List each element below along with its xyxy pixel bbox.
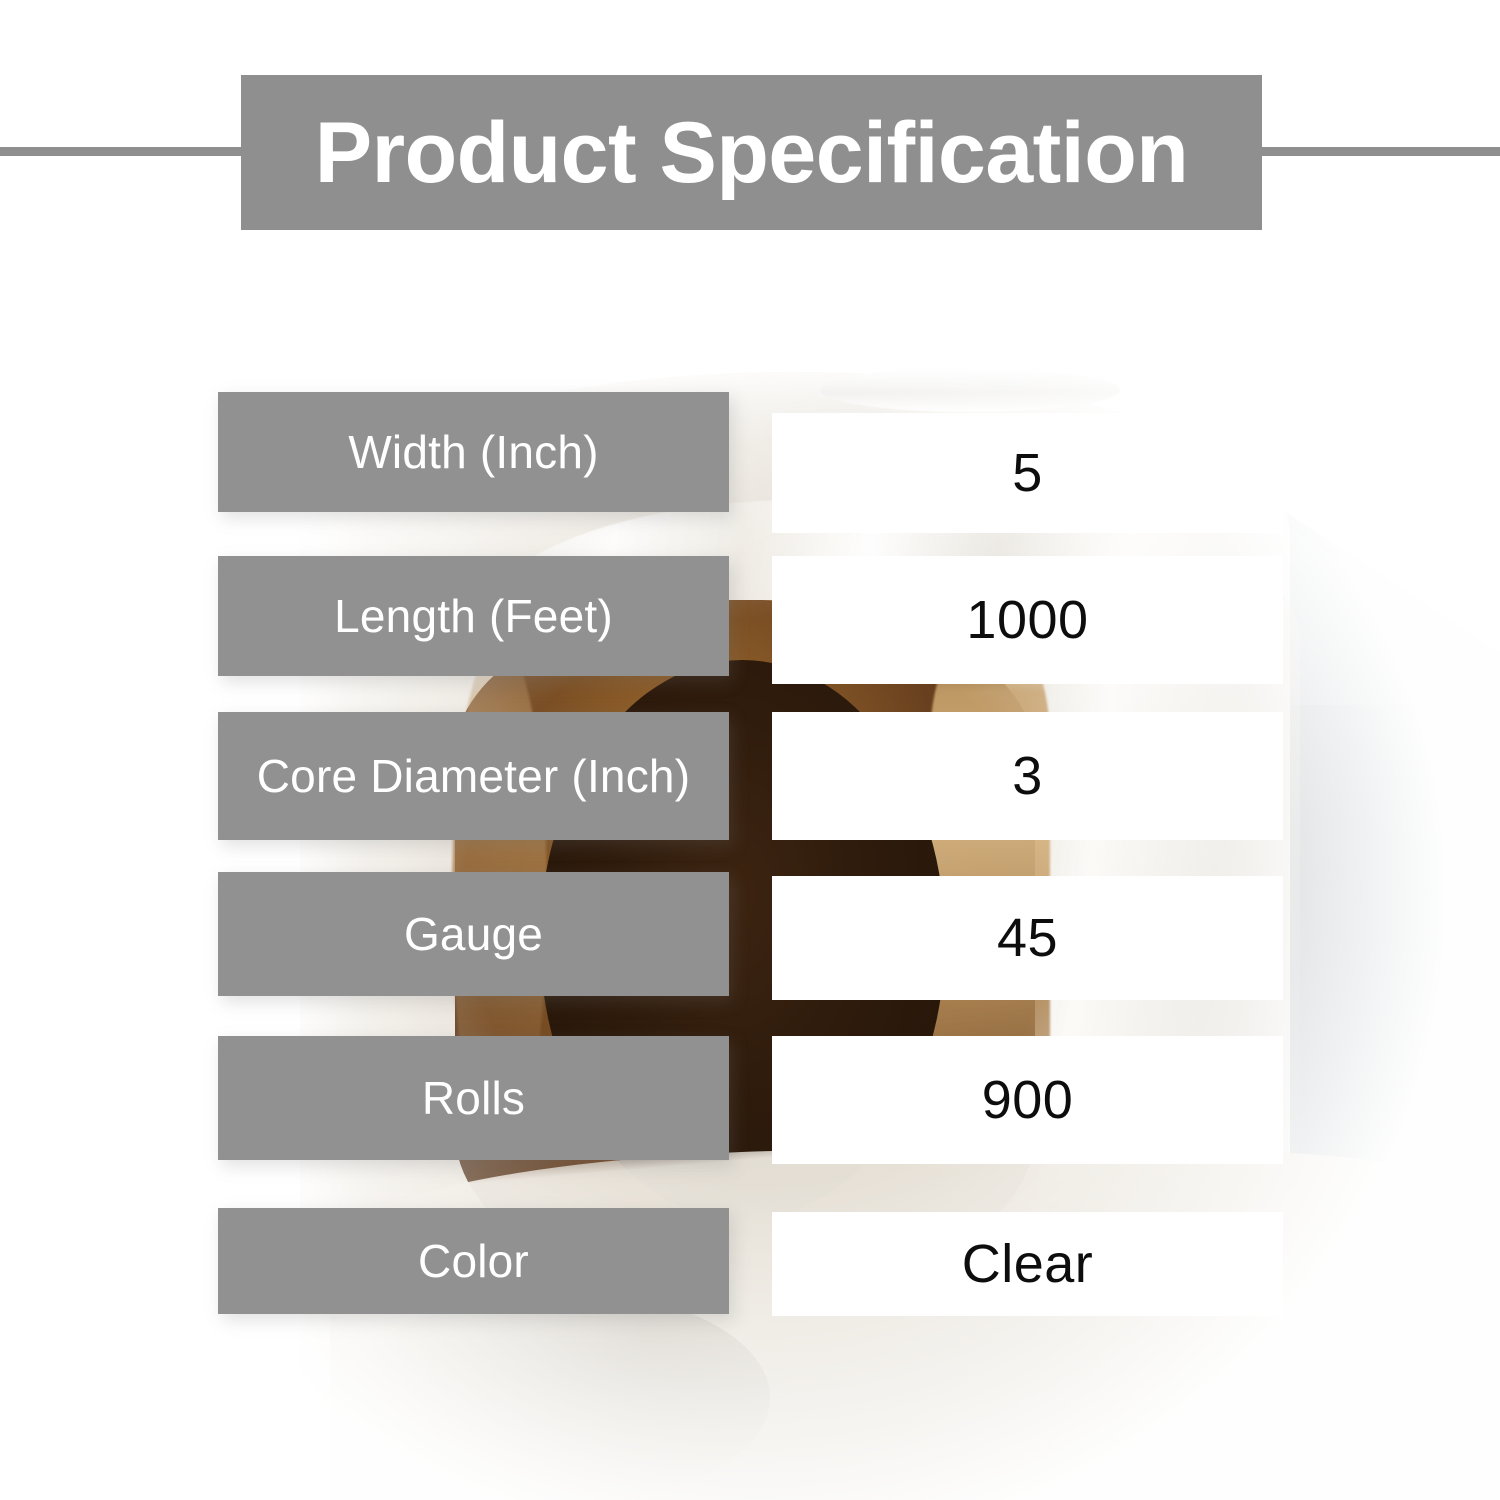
spec-value-cell: 900 <box>772 1036 1283 1164</box>
spec-label-cell: Rolls <box>218 1036 729 1160</box>
spec-value-cell: 1000 <box>772 556 1283 684</box>
spec-label-cell: Width (Inch) <box>218 392 729 512</box>
specification-table: Width (Inch) 5 Length (Feet) 1000 Core D… <box>0 0 1500 1500</box>
spec-label-text: Gauge <box>392 910 555 959</box>
spec-label-text: Length (Feet) <box>322 592 625 641</box>
spec-value-text: 900 <box>982 1072 1074 1129</box>
spec-label-cell: Core Diameter (Inch) <box>218 712 729 840</box>
spec-value-cell: 45 <box>772 876 1283 1000</box>
spec-value-text: Clear <box>962 1236 1094 1293</box>
spec-label-text: Core Diameter (Inch) <box>245 752 702 801</box>
spec-value-cell: 5 <box>772 413 1283 533</box>
spec-value-text: 3 <box>1012 748 1043 805</box>
spec-label-text: Rolls <box>410 1074 537 1123</box>
spec-value-cell: 3 <box>772 712 1283 840</box>
spec-label-cell: Gauge <box>218 872 729 996</box>
spec-label-cell: Length (Feet) <box>218 556 729 676</box>
spec-label-text: Width (Inch) <box>336 428 610 477</box>
product-specification-graphic: Product Specification Width (Inch) 5 Len… <box>0 0 1500 1500</box>
spec-label-cell: Color <box>218 1208 729 1314</box>
spec-value-text: 45 <box>997 910 1058 967</box>
spec-value-text: 5 <box>1012 445 1043 502</box>
spec-value-cell: Clear <box>772 1212 1283 1316</box>
spec-label-text: Color <box>406 1237 541 1286</box>
spec-value-text: 1000 <box>966 592 1088 649</box>
